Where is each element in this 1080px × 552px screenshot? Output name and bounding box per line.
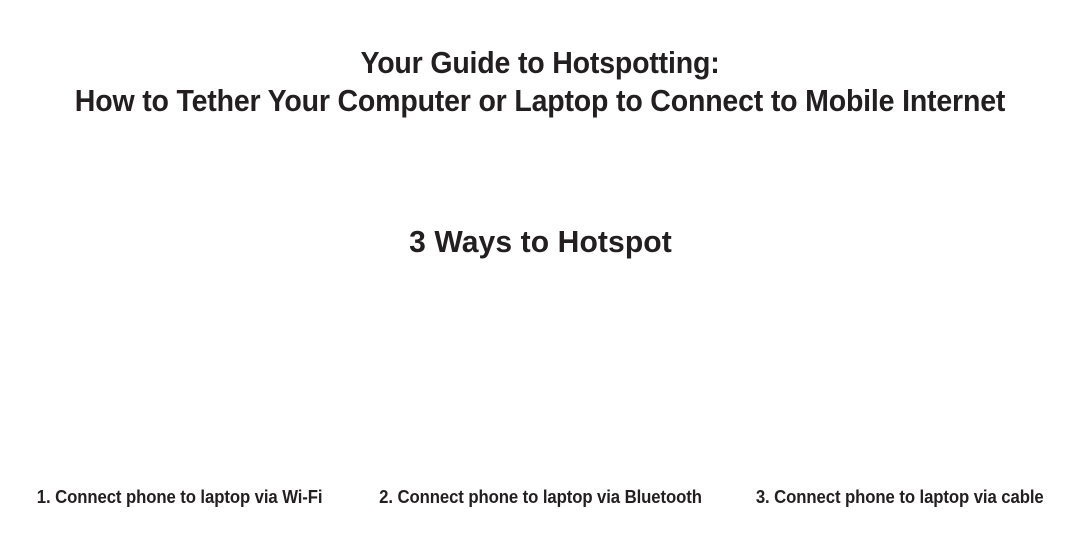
page-title-line-1: Your Guide to Hotspotting: (43, 44, 1037, 82)
step-caption-cell-2: 2. Connect phone to laptop via Bluetooth (360, 486, 720, 509)
step-caption-cell-3: 3. Connect phone to laptop via cable (720, 486, 1080, 509)
step-illustration-2 (360, 282, 720, 478)
step-illustration-1 (0, 282, 360, 478)
step-illustrations (0, 282, 1080, 478)
section-heading: 3 Ways to Hotspot (409, 222, 672, 262)
step-caption-1: 1. Connect phone to laptop via Wi-Fi (37, 486, 323, 509)
step-captions: 1. Connect phone to laptop via Wi-Fi 2. … (0, 486, 1080, 514)
step-caption-2: 2. Connect phone to laptop via Bluetooth (379, 486, 702, 509)
page-title-line-2: How to Tether Your Computer or Laptop to… (43, 82, 1037, 120)
step-illustration-3 (720, 282, 1080, 478)
step-caption-3: 3. Connect phone to laptop via cable (756, 486, 1044, 509)
infographic-page: Your Guide to Hotspotting: How to Tether… (0, 0, 1080, 552)
section-heading-container: 3 Ways to Hotspot (0, 222, 1080, 262)
step-caption-cell-1: 1. Connect phone to laptop via Wi-Fi (0, 486, 360, 509)
page-title: Your Guide to Hotspotting: How to Tether… (0, 44, 1080, 120)
